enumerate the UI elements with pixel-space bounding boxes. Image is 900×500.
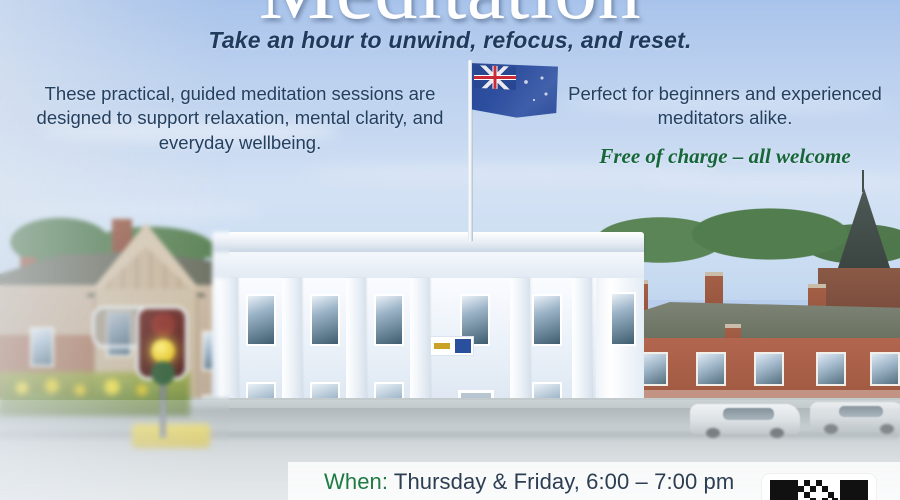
traffic-light-amber-lamp (151, 339, 175, 363)
yellow-flowers (8, 376, 158, 402)
window (30, 327, 54, 367)
car-window (723, 408, 774, 420)
cloud-wisp (640, 175, 900, 189)
yellow-roadside-object (132, 424, 210, 448)
window (754, 352, 784, 386)
window (696, 352, 726, 386)
schedule-value: Thursday & Friday, 6:00 – 7:00 pm (388, 469, 734, 494)
frieze (212, 252, 644, 278)
parked-car (810, 402, 900, 430)
spire-finial (862, 170, 864, 192)
car-wheel (770, 428, 784, 438)
traffic-light-green-lamp (151, 361, 175, 385)
when-label: When: (324, 469, 388, 494)
qr-code-card[interactable] (762, 474, 876, 500)
window (610, 292, 636, 346)
meditation-poster: Meditation Take an hour to unwind, refoc… (0, 0, 900, 500)
window (310, 294, 340, 346)
left-paragraph: These practical, guided meditation sessi… (36, 82, 444, 155)
traffic-light-red-lamp (151, 313, 175, 337)
window (374, 294, 404, 346)
car-wheel (824, 424, 838, 434)
qr-code-icon[interactable] (770, 480, 868, 500)
union-jack-canton-icon (474, 64, 516, 91)
car-wheel (706, 428, 720, 438)
car-wheel (880, 424, 894, 434)
right-paragraph: Perfect for beginners and experienced me… (560, 82, 890, 131)
window (246, 294, 276, 346)
parked-car (690, 404, 800, 434)
background-photograph (0, 0, 900, 500)
window (870, 352, 900, 386)
traffic-light-icon (136, 306, 188, 380)
schedule-text: When: Thursday & Friday, 6:00 – 7:00 pm (324, 469, 734, 495)
poster-subtitle: Take an hour to unwind, refocus, and res… (0, 27, 900, 54)
car-window (839, 406, 883, 417)
shop-sign (430, 336, 474, 356)
window (532, 294, 562, 346)
free-of-charge-line: Free of charge – all welcome (560, 144, 890, 169)
cornice (212, 232, 644, 252)
flag-stars (516, 74, 556, 114)
window (816, 352, 846, 386)
roof (620, 302, 900, 342)
